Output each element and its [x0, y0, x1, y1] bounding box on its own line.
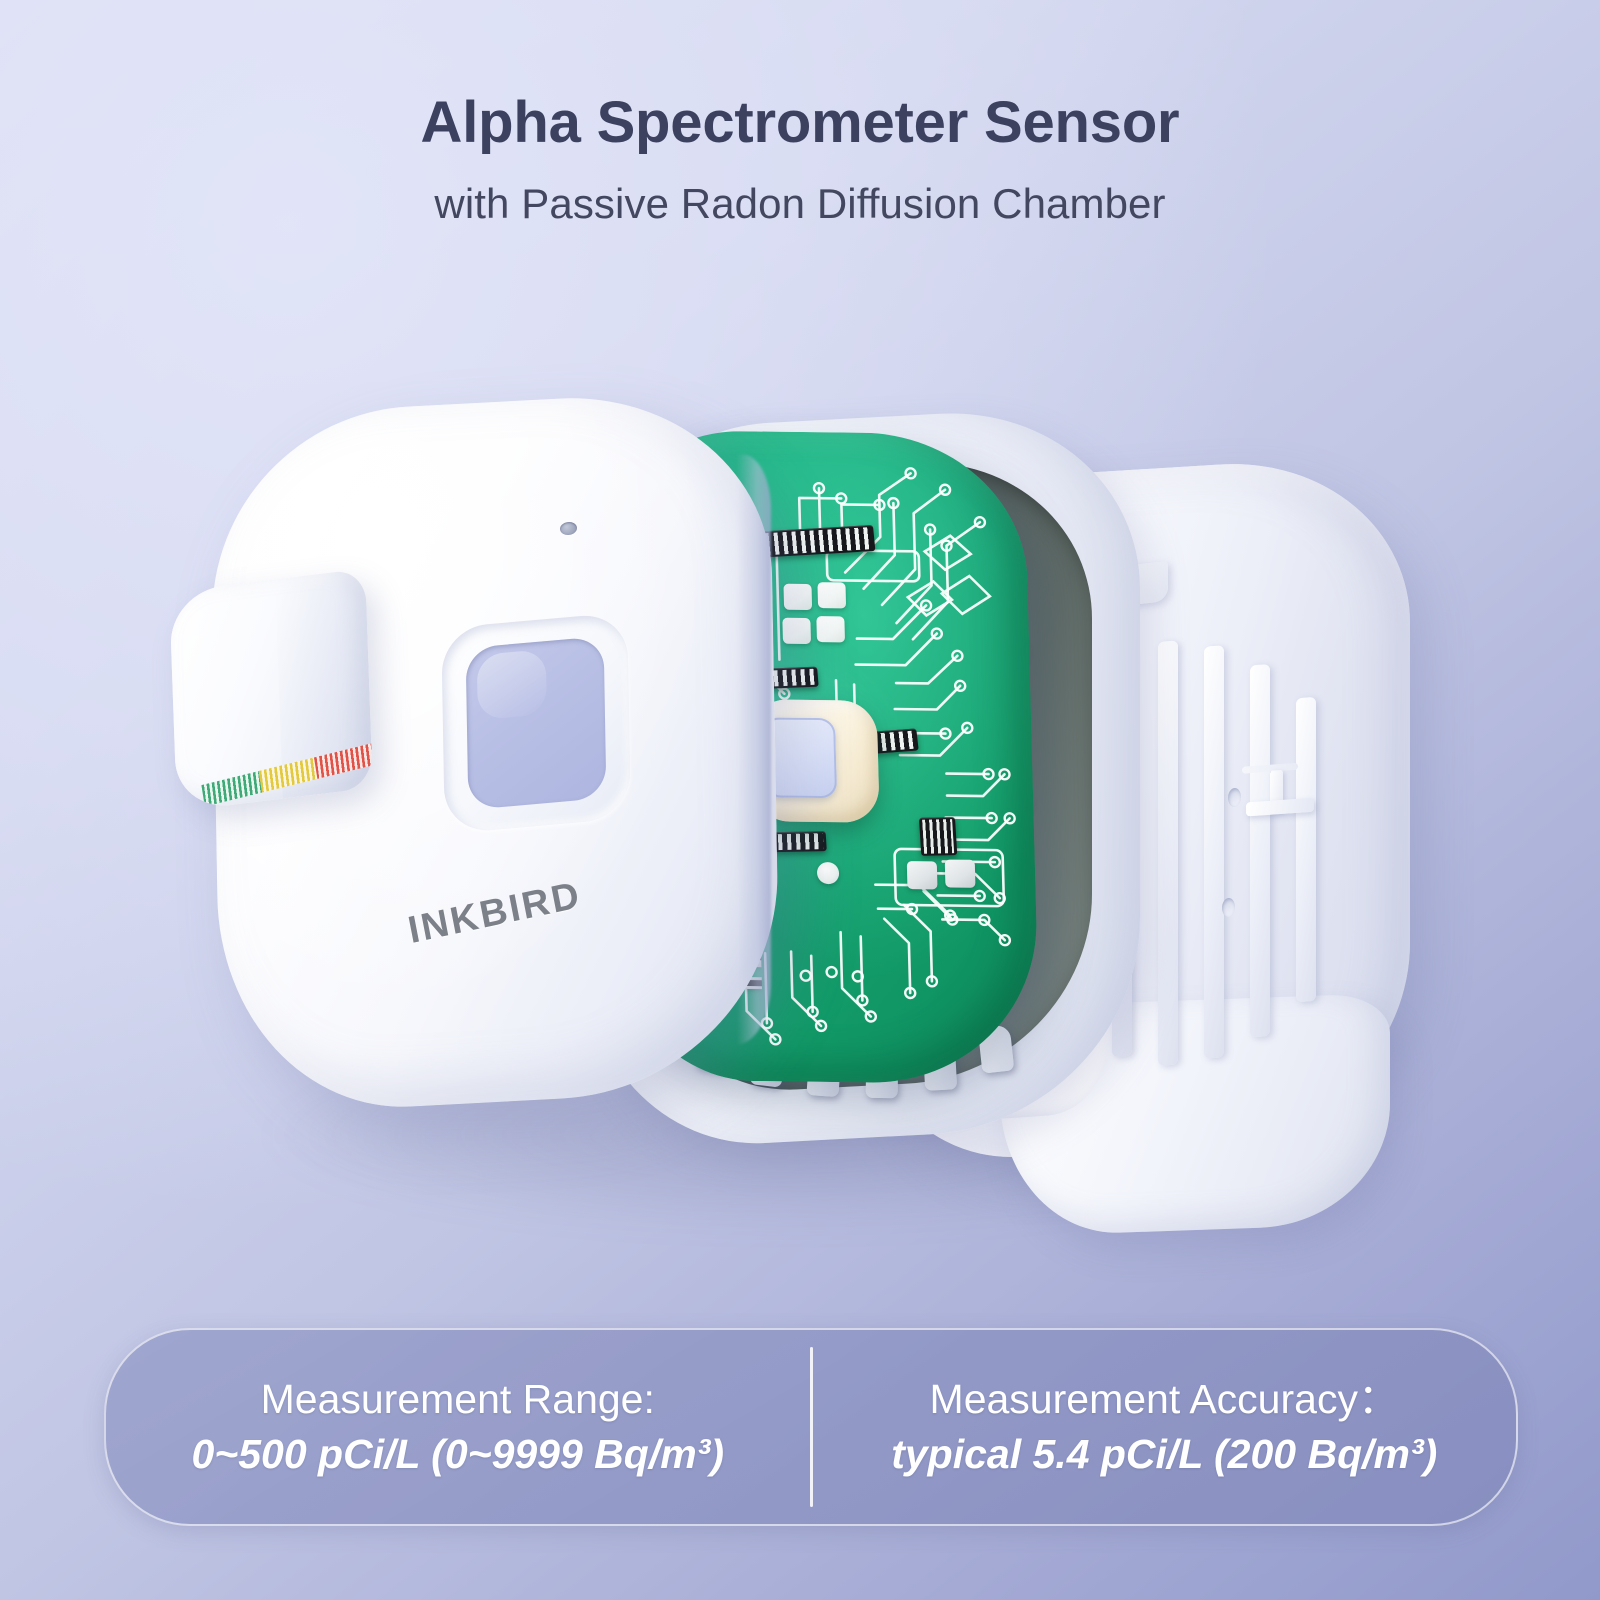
- product-exploded-view: INKBIRD: [110, 360, 1510, 1240]
- spec-value: typical 5.4 pCi/L (200 Bq/m³): [891, 1431, 1437, 1478]
- front-cover: INKBIRD: [215, 402, 775, 1102]
- radon-level-indicator-strip: [169, 568, 373, 811]
- smd-pad: [782, 618, 811, 644]
- spec-measurement-range: Measurement Range: 0~500 pCi/L (0~9999 B…: [106, 1376, 810, 1477]
- display-window-glass: [466, 636, 607, 810]
- display-window: [441, 612, 631, 834]
- spec-label: Measurement Range:: [261, 1376, 655, 1423]
- page-subtitle: with Passive Radon Diffusion Chamber: [0, 181, 1600, 227]
- smd-pad: [783, 584, 812, 610]
- spec-card: Measurement Range: 0~500 pCi/L (0~9999 B…: [104, 1328, 1518, 1526]
- headline-block: Alpha Spectrometer Sensor with Passive R…: [0, 92, 1600, 227]
- spec-measurement-accuracy: Measurement Accuracy： typical 5.4 pCi/L …: [813, 1376, 1517, 1477]
- spec-value: 0~500 pCi/L (0~9999 Bq/m³): [192, 1431, 724, 1478]
- ic-header-dual: [919, 817, 957, 856]
- wall-mount-bracket: [1242, 767, 1320, 824]
- smd-pad: [907, 861, 938, 889]
- smd-pad: [945, 860, 976, 888]
- smd-pad-round: [817, 862, 840, 884]
- spec-label: Measurement Accuracy：: [930, 1376, 1399, 1423]
- product-hero-image: Alpha Spectrometer Sensor with Passive R…: [0, 0, 1600, 1600]
- page-title: Alpha Spectrometer Sensor: [0, 92, 1600, 155]
- front-cover-edge: [737, 453, 771, 1044]
- smd-pad: [816, 616, 845, 642]
- indicator-low-segment: [201, 771, 262, 807]
- smd-pad: [817, 582, 846, 608]
